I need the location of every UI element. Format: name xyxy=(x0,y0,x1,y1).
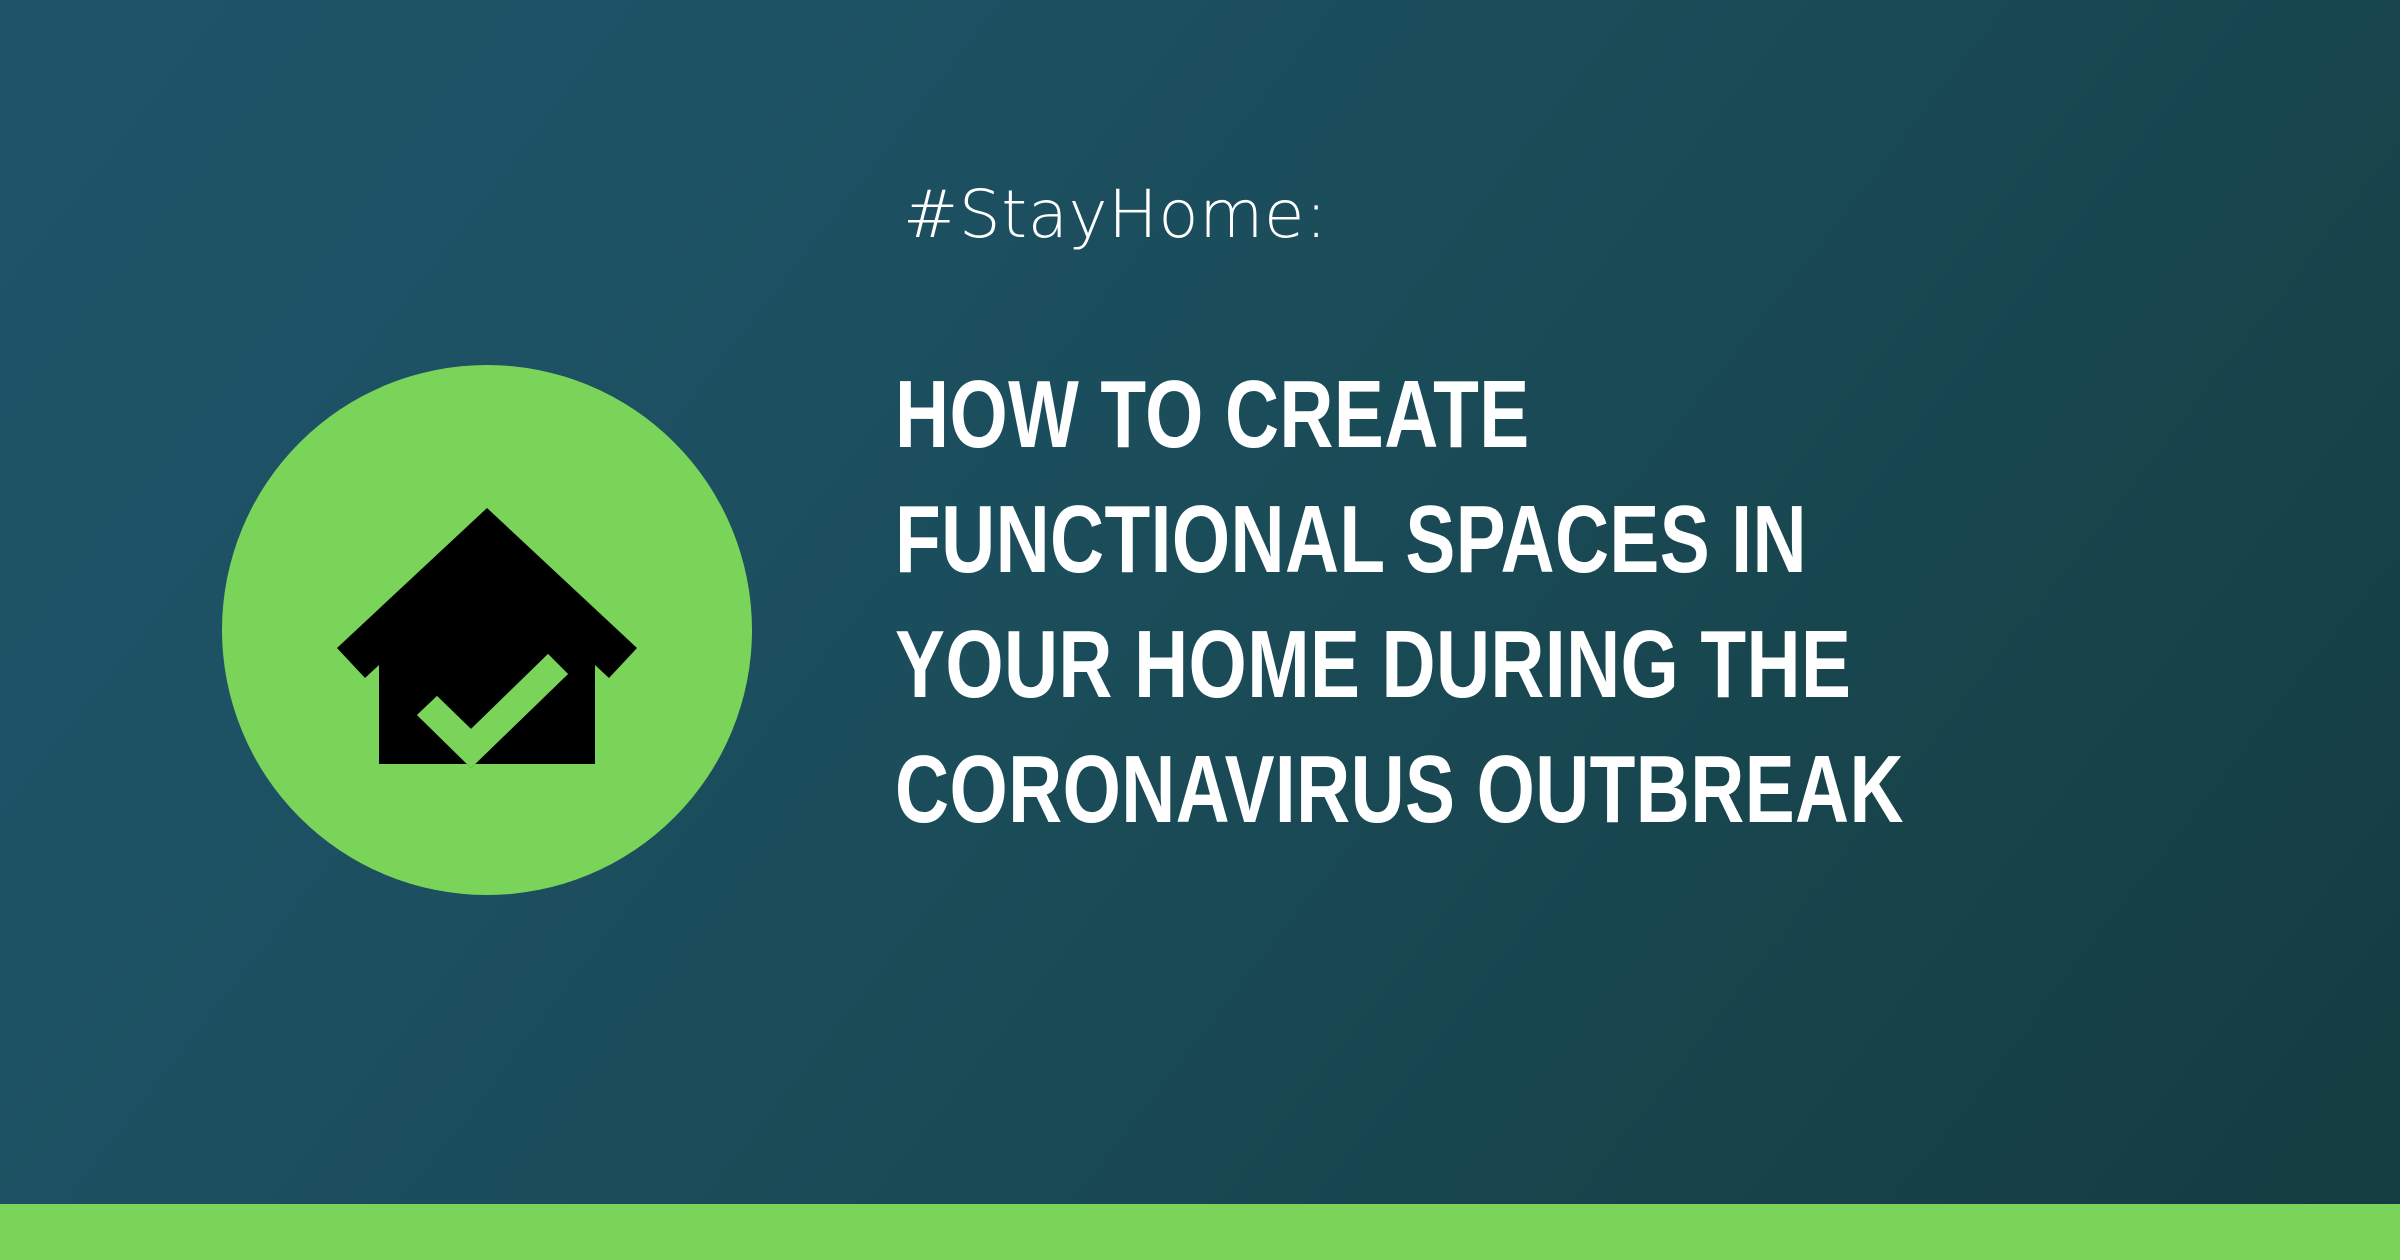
headline-line-4: CORONAVIRUS OUTBREAK xyxy=(895,727,1904,852)
eyebrow-hashtag: #StayHome: xyxy=(903,182,1328,248)
headline-line-3: YOUR HOME DURING THE xyxy=(895,602,1904,727)
house-check-icon xyxy=(337,486,637,786)
headline-line-1: HOW TO CREATE xyxy=(895,352,1904,477)
house-icon-badge xyxy=(222,365,752,895)
page-title: HOW TO CREATE FUNCTIONAL SPACES IN YOUR … xyxy=(895,352,2189,852)
headline-text-block: #StayHome: HOW TO CREATE FUNCTIONAL SPAC… xyxy=(895,0,2295,1204)
stay-home-banner: #StayHome: HOW TO CREATE FUNCTIONAL SPAC… xyxy=(0,0,2400,1260)
bottom-accent-bar xyxy=(0,1204,2400,1260)
headline-line-2: FUNCTIONAL SPACES IN xyxy=(895,477,1904,602)
